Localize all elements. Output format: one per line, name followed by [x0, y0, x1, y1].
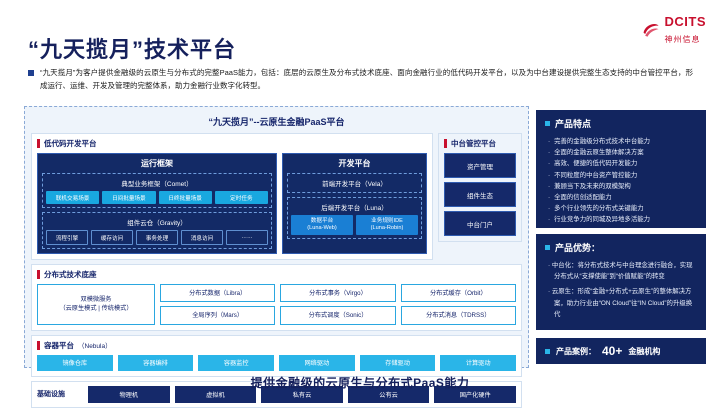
- feature-item: ·多个行业领先的分布式关键能力: [548, 203, 697, 214]
- section-title-lowcode: 低代码开发平台: [44, 138, 97, 149]
- bullet-square-icon: [545, 121, 550, 126]
- logo-text-en: DCITS: [665, 14, 707, 29]
- feature-text: 不同粒度的中台资产管控能力: [554, 170, 637, 181]
- backend-platform: 后端开发平台（Luna） 数据平台 (Luna-Web) 业务规则IDE (Lu…: [287, 197, 422, 239]
- container-chip[interactable]: 计算驱动: [440, 355, 516, 371]
- case-label: 产品案例：: [556, 346, 596, 357]
- dcits-swirl-icon: [641, 20, 661, 40]
- backend-chip[interactable]: 数据平台 (Luna-Web): [291, 215, 353, 235]
- comet-group: 典型业务框架（Comet） 联机交易场景 日间批量场景 日终批量场景 定时任务: [42, 173, 272, 208]
- section-title-container: 容器平台: [44, 340, 74, 351]
- dot-icon: ·: [548, 181, 550, 192]
- feature-item: ·兼顾当下及未来的双模架构: [548, 181, 697, 192]
- section-header-lowcode: 低代码开发平台: [37, 138, 427, 149]
- feature-item: ·完善的金融级分布式技术中台能力: [548, 136, 697, 147]
- feature-text: 高效、便捷的低代码开发能力: [554, 158, 637, 169]
- midcontrol-button[interactable]: 中台门户: [444, 211, 516, 236]
- feature-item: ·不同粒度的中台资产管控能力: [548, 170, 697, 181]
- comet-chip[interactable]: 日终批量场景: [159, 191, 212, 204]
- dot-icon: ·: [548, 214, 550, 225]
- bullet-square-icon: [28, 70, 34, 76]
- gravity-chip[interactable]: 缓存访问: [91, 230, 133, 245]
- panel-header-features: 产品特点: [536, 110, 706, 134]
- frontend-platform: 前端开发平台（Vela）: [287, 173, 422, 193]
- base-cell[interactable]: 分布式数据（Libra）: [160, 284, 275, 302]
- base-column: 分布式事务（Virgo） 分布式调度（Sonic）: [280, 284, 395, 325]
- gravity-group: 组件云仓（Gravity） 流程引擎 缓存访问 事务处理 消息访问 ……: [42, 212, 272, 249]
- section-header-midcontrol: 中台管控平台: [444, 138, 516, 149]
- base-column: 分布式数据（Libra） 全局序列（Mars）: [160, 284, 275, 325]
- bullet-square-icon: [545, 245, 550, 250]
- runtime-framework-block: 运行框架 典型业务框架（Comet） 联机交易场景 日间批量场景 日终批量场景 …: [37, 153, 277, 254]
- dev-platform-block: 开发平台 前端开发平台（Vela） 后端开发平台（Luna） 数据平台 (Lun…: [282, 153, 427, 254]
- intro-paragraph: “九天揽月”为客户提供金融级的云原生与分布式的完整PaaS能力，包括：底层的云原…: [28, 66, 693, 92]
- gravity-chip[interactable]: ……: [226, 230, 268, 245]
- panel-product-features: 产品特点 ·完善的金融级分布式技术中台能力 ·全面的金融云原生整体解决方案 ·高…: [536, 110, 706, 228]
- brand-logo: DCITS 神州信息: [641, 14, 707, 46]
- section-distributed-base: 分布式技术底座 双模微服务 （云原生模式 | 传统模式） 分布式数据（Libra…: [31, 264, 522, 331]
- advantage-item: · 云原生：形成“金融+分布式+云原生”的整体解决方案，助力行业由“ON Clo…: [548, 286, 697, 320]
- case-suffix: 金融机构: [628, 346, 660, 357]
- feature-item: ·全面的信创适配能力: [548, 192, 697, 203]
- panel-title-advantages: 产品优势：: [555, 241, 600, 254]
- feature-text: 全面的信创适配能力: [554, 192, 612, 203]
- dev-platform-title: 开发平台: [283, 154, 426, 173]
- container-chip[interactable]: 容器编排: [118, 355, 194, 371]
- container-chip[interactable]: 存储驱动: [360, 355, 436, 371]
- backend-platform-label: 后端开发平台（Luna）: [291, 201, 418, 215]
- feature-text: 全面的金融云原生整体解决方案: [554, 147, 643, 158]
- base-cell[interactable]: 分布式事务（Virgo）: [280, 284, 395, 302]
- bullet-square-icon: [545, 349, 550, 354]
- panel-product-advantages: 产品优势： · 中台化：将分布式技术与中台理念进行融合，实现分布式从“支撑使能”…: [536, 234, 706, 330]
- container-chip[interactable]: 镜像仓库: [37, 355, 113, 371]
- comet-label: 典型业务框架（Comet）: [46, 177, 268, 191]
- feature-item: ·行业竞争力的同城及异地多活能力: [548, 214, 697, 225]
- section-lowcode: 低代码开发平台 运行框架 典型业务框架（Comet） 联机交易场景 日间批量场景…: [31, 133, 433, 260]
- frontend-platform-label: 前端开发平台（Vela）: [291, 176, 418, 190]
- intro-text: “九天揽月”为客户提供金融级的云原生与分布式的完整PaaS能力，包括：底层的云原…: [40, 66, 693, 92]
- dot-icon: ·: [548, 136, 550, 147]
- section-accent-bar-icon: [37, 139, 40, 148]
- feature-text: 多个行业领先的分布式关键能力: [554, 203, 643, 214]
- section-accent-bar-icon: [37, 341, 40, 350]
- dot-icon: ·: [548, 147, 550, 158]
- board-title: “九天揽月”--云原生金融PaaS平台: [31, 112, 522, 133]
- base-cell[interactable]: 分布式消息（TDRSS）: [401, 306, 516, 324]
- section-midcontrol: 中台管控平台 资产管理 组件生态 中台门户: [438, 133, 522, 242]
- base-cell[interactable]: 分布式调度（Sonic）: [280, 306, 395, 324]
- feature-text: 行业竞争力的同城及异地多活能力: [554, 214, 650, 225]
- comet-chip[interactable]: 联机交易场景: [46, 191, 99, 204]
- panel-header-advantages: 产品优势：: [536, 234, 706, 258]
- section-accent-bar-icon: [444, 139, 447, 148]
- dual-mode-microservice-cell[interactable]: 双模微服务 （云原生模式 | 传统模式）: [37, 284, 155, 325]
- feature-text: 完善的金融级分布式技术中台能力: [554, 136, 650, 147]
- case-number: 40+: [602, 344, 622, 358]
- dot-icon: ·: [548, 158, 550, 169]
- midcontrol-button[interactable]: 资产管理: [444, 153, 516, 178]
- feature-item: ·全面的金融云原生整体解决方案: [548, 147, 697, 158]
- logo-text-cn: 神州信息: [665, 35, 701, 44]
- midcontrol-button[interactable]: 组件生态: [444, 182, 516, 207]
- dot-icon: ·: [548, 170, 550, 181]
- base-column: 分布式缓存（Orbit） 分布式消息（TDRSS）: [401, 284, 516, 325]
- runtime-framework-title: 运行框架: [38, 154, 276, 173]
- section-container-platform: 容器平台 （Nebula） 镜像仓库 容器编排 容器监控 网络驱动 存储驱动 计…: [31, 335, 522, 377]
- section-header-distributed-base: 分布式技术底座: [37, 269, 516, 280]
- backend-chip[interactable]: 业务规则IDE (Luna-Robin): [356, 215, 418, 235]
- container-chip[interactable]: 网络驱动: [279, 355, 355, 371]
- section-sub-container: （Nebula）: [78, 340, 112, 350]
- gravity-chip[interactable]: 流程引擎: [46, 230, 88, 245]
- section-accent-bar-icon: [37, 270, 40, 279]
- feature-text: 兼顾当下及未来的双模架构: [554, 181, 631, 192]
- section-header-container: 容器平台 （Nebula）: [37, 340, 516, 351]
- page-title: “九天揽月”技术平台: [28, 32, 236, 64]
- gravity-chip[interactable]: 消息访问: [181, 230, 223, 245]
- advantage-text: 云原生：形成“金融+分布式+云原生”的整体解决方案，助力行业由“ON Cloud…: [552, 288, 692, 317]
- footer-caption: 提供金融级的云原生与分布式PaaS能力: [0, 374, 720, 391]
- panel-product-case: 产品案例： 40+ 金融机构: [536, 338, 706, 364]
- section-title-midcontrol: 中台管控平台: [451, 138, 496, 149]
- comet-chip[interactable]: 定时任务: [215, 191, 268, 204]
- advantage-text: 中台化：将分布式技术与中台理念进行融合，实现分布式从“支撑使能”到“价值赋能”的…: [552, 262, 693, 280]
- feature-item: ·高效、便捷的低代码开发能力: [548, 158, 697, 169]
- base-cell[interactable]: 全局序列（Mars）: [160, 306, 275, 324]
- section-title-distributed-base: 分布式技术底座: [44, 269, 97, 280]
- comet-chip[interactable]: 日间批量场景: [102, 191, 155, 204]
- gravity-chip[interactable]: 事务处理: [136, 230, 178, 245]
- dot-icon: ·: [548, 203, 550, 214]
- advantage-item: · 中台化：将分布式技术与中台理念进行融合，实现分布式从“支撑使能”到“价值赋能…: [548, 260, 697, 282]
- base-cell[interactable]: 分布式缓存（Orbit）: [401, 284, 516, 302]
- architecture-diagram: “九天揽月”--云原生金融PaaS平台 低代码开发平台 运行框架 典型业务框架（…: [24, 106, 529, 368]
- gravity-label: 组件云仓（Gravity）: [46, 216, 268, 230]
- container-chip[interactable]: 容器监控: [198, 355, 274, 371]
- panel-title-features: 产品特点: [555, 117, 591, 130]
- dot-icon: ·: [548, 192, 550, 203]
